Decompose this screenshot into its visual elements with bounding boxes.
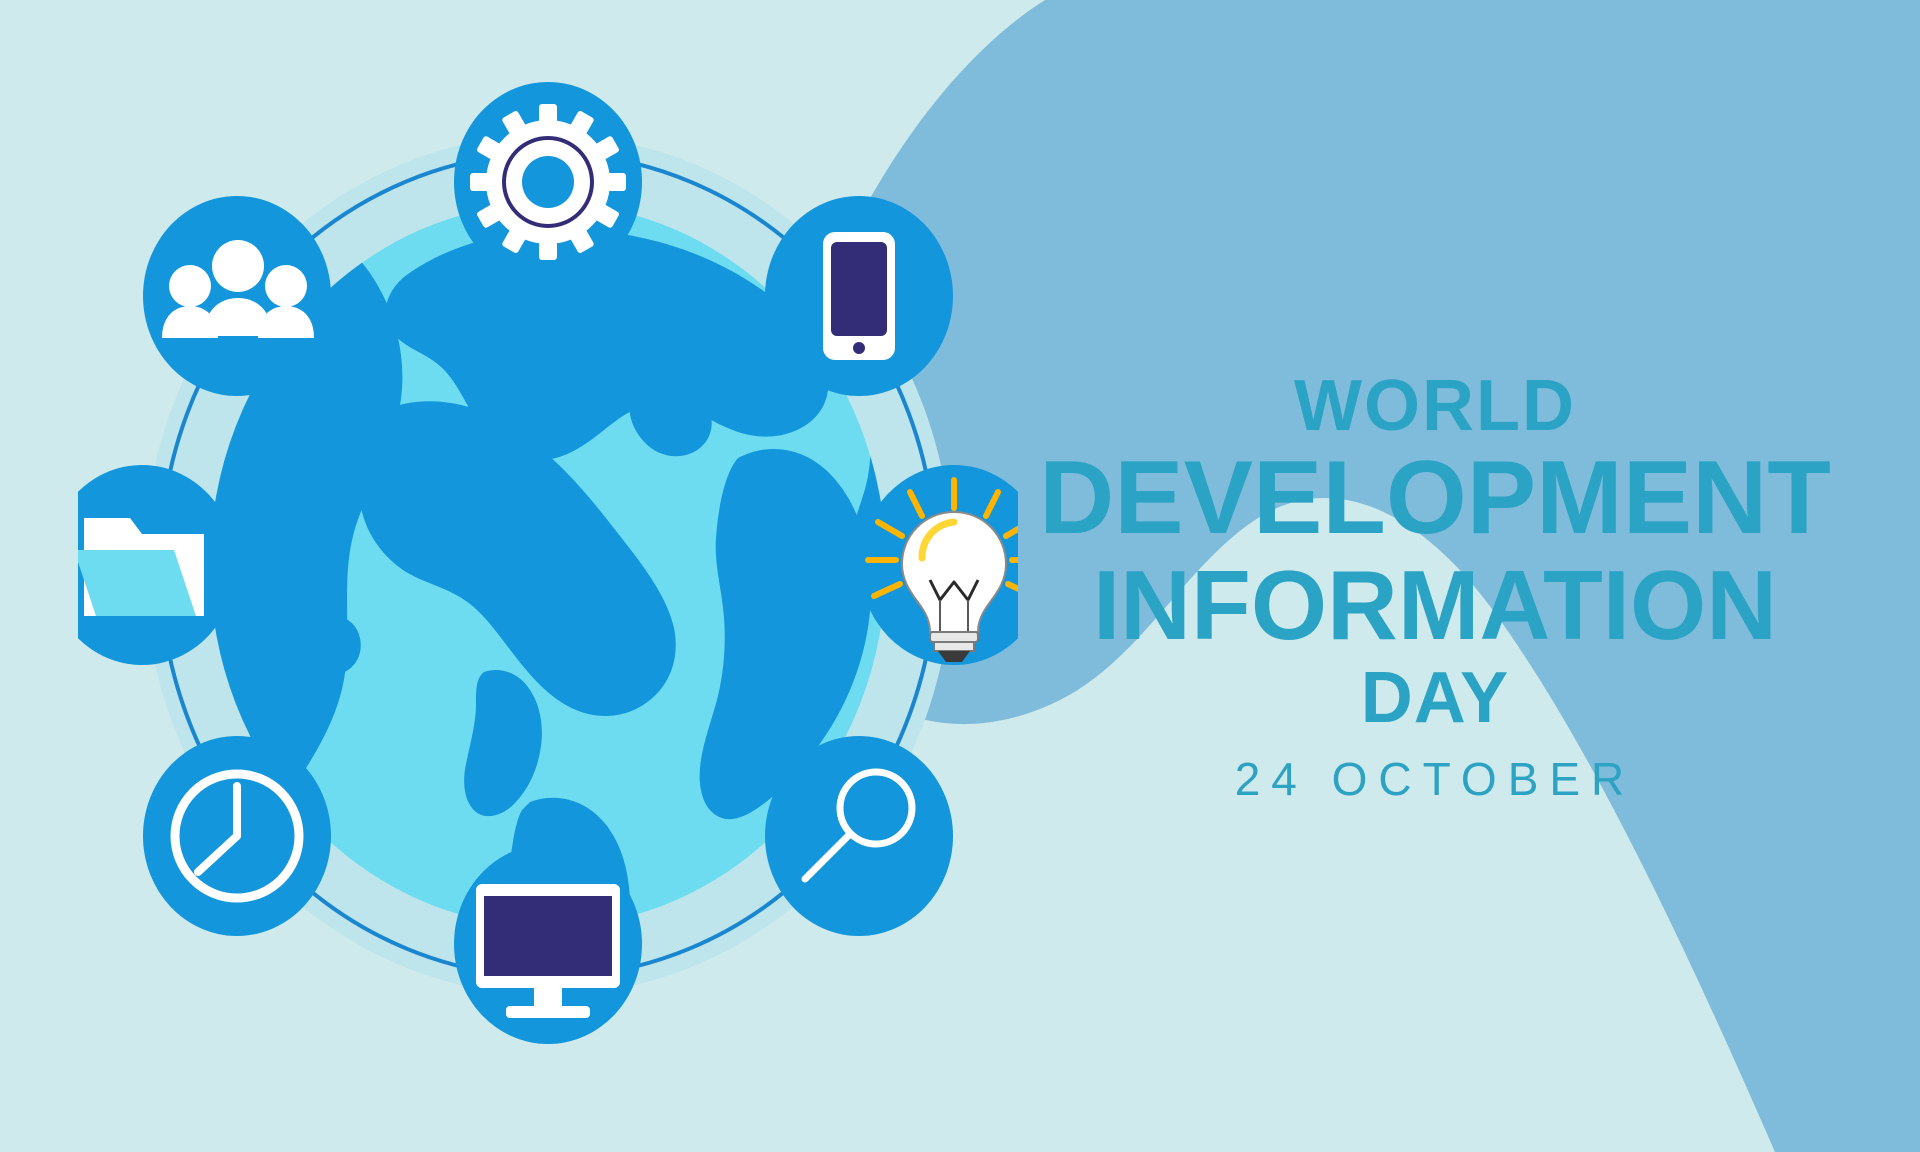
magnifier-icon[interactable] <box>765 736 953 936</box>
title-block: WORLD DEVELOPMENT INFORMATION DAY 24 OCT… <box>1020 370 1850 802</box>
event-date: 24 OCTOBER <box>1020 756 1850 802</box>
gear-icon[interactable] <box>454 82 642 282</box>
monitor-icon[interactable] <box>454 844 642 1044</box>
title-line-world: WORLD <box>1020 370 1850 442</box>
title-line-information: INFORMATION <box>1020 556 1850 654</box>
poster-canvas: WORLD DEVELOPMENT INFORMATION DAY 24 OCT… <box>0 0 1920 1152</box>
clock-icon[interactable] <box>143 736 331 936</box>
people-group-icon[interactable] <box>143 196 331 396</box>
title-line-development: DEVELOPMENT <box>1020 446 1850 550</box>
globe-illustration <box>78 60 1018 1070</box>
mobile-phone-icon[interactable] <box>765 196 953 396</box>
title-line-day: DAY <box>1020 662 1850 734</box>
